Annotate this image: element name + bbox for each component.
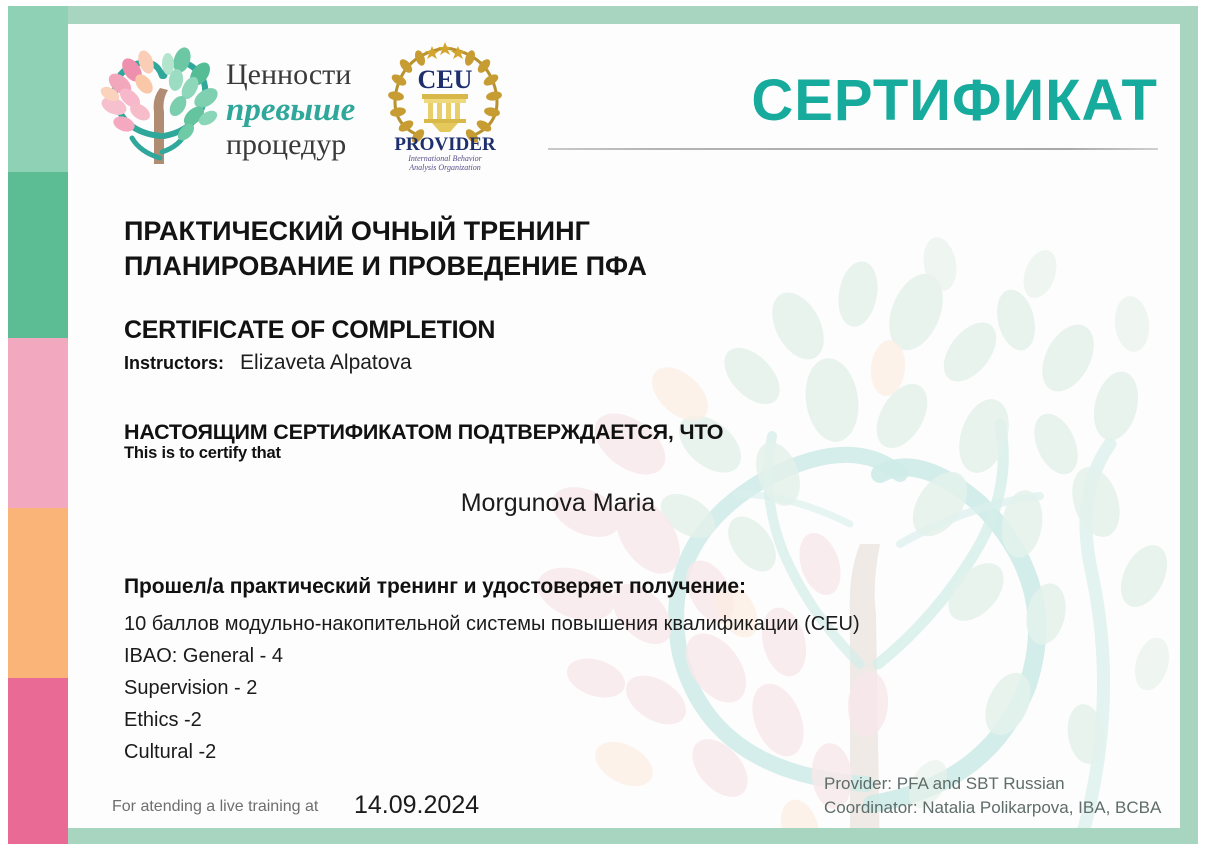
certificate-document: Ценности превыше процедур	[0, 0, 1206, 850]
recipient-name: Morgunova Maria	[28, 489, 1088, 518]
certify-statement-ru: НАСТОЯЩИМ СЕРТИФИКАТОМ ПОДТВЕРЖДАЕТСЯ, Ч…	[124, 420, 723, 445]
credit-item: 10 баллов модульно-накопительной системы…	[124, 608, 860, 640]
credit-item: Supervision - 2	[124, 672, 860, 704]
instructors-label: Instructors:	[124, 353, 224, 374]
credits-list: 10 баллов модульно-накопительной системы…	[124, 608, 860, 768]
credit-item: Cultural -2	[124, 736, 860, 768]
course-title-line2: ПЛАНИРОВАНИЕ И ПРОВЕДЕНИЕ ПФА	[124, 249, 647, 284]
course-title-line1: ПРАКТИЧЕСКИЙ ОЧНЫЙ ТРЕНИНГ	[124, 214, 647, 249]
completion-date: 14.09.2024	[354, 791, 479, 820]
footer-provider-info: Provider: PFA and SBT Russian Coordinato…	[824, 772, 1161, 820]
provider-line: Provider: PFA and SBT Russian	[824, 772, 1161, 796]
color-block-pink	[8, 338, 68, 508]
color-block-light-green	[8, 6, 68, 172]
coordinator-line: Coordinator: Natalia Polikarpova, IBA, B…	[824, 796, 1161, 820]
completion-heading: CERTIFICATE OF COMPLETION	[124, 316, 495, 345]
instructors-name: Elizaveta Alpatova	[240, 351, 412, 375]
attendance-label: For atending a live training at	[112, 798, 318, 816]
credits-heading: Прошел/а практический тренинг и удостове…	[124, 575, 746, 599]
credit-item: Ethics -2	[124, 704, 860, 736]
credit-item: IBAO: General - 4	[124, 640, 860, 672]
instructors-row: Instructors: Elizaveta Alpatova	[124, 351, 412, 375]
color-block-deep-pink	[8, 678, 68, 844]
certificate-page: Ценности превыше процедур	[28, 24, 1180, 828]
color-block-orange	[8, 508, 68, 678]
certificate-body: ПРАКТИЧЕСКИЙ ОЧНЫЙ ТРЕНИНГ ПЛАНИРОВАНИЕ …	[28, 24, 1180, 828]
certify-statement-en: This is to certify that	[124, 444, 281, 463]
course-title: ПРАКТИЧЕСКИЙ ОЧНЫЙ ТРЕНИНГ ПЛАНИРОВАНИЕ …	[124, 214, 647, 284]
color-block-green	[8, 172, 68, 338]
color-strip	[8, 6, 68, 844]
